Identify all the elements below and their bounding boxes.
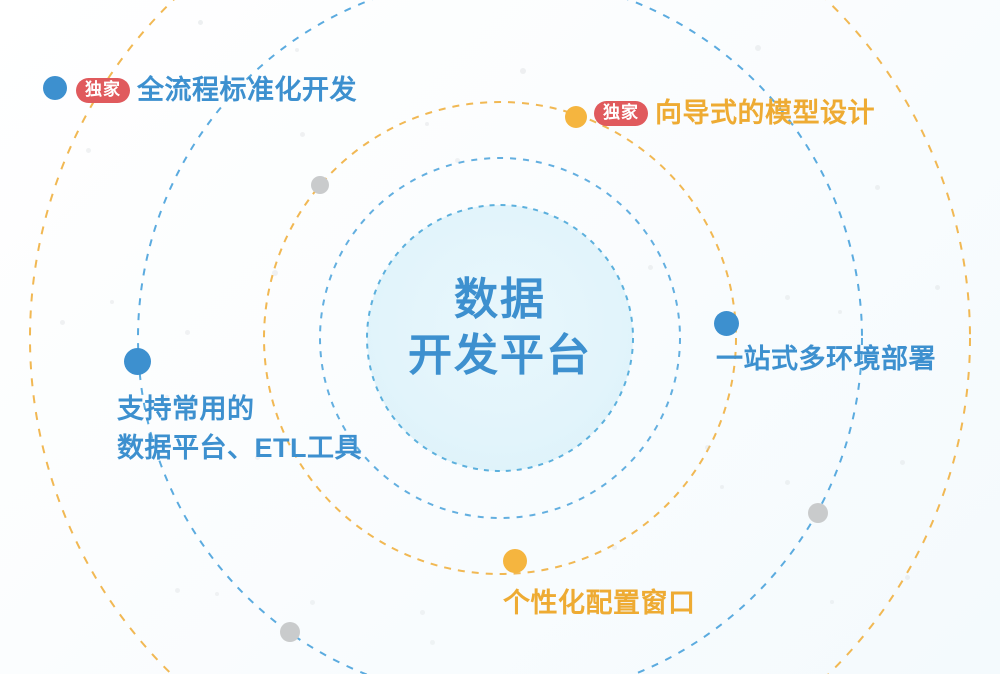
exclusive-badge: 独家 [594, 101, 648, 126]
node-dot-full-process[interactable] [43, 76, 67, 100]
node-dot-support-etl-tools[interactable] [124, 348, 151, 375]
background-speck [720, 485, 724, 489]
background-speck [830, 600, 834, 604]
node-label-support-etl-tools[interactable]: 支持常用的 数据平台、ETL工具 [117, 390, 362, 468]
gray-marker-top [311, 176, 329, 194]
node-dot-wizard-model-design[interactable] [565, 106, 587, 128]
node-text-full-process: 全流程标准化开发 [137, 73, 357, 108]
background-speck [425, 122, 429, 126]
node-label-one-stop-deploy[interactable]: 一站式多环境部署 [716, 342, 936, 377]
background-speck [110, 300, 114, 304]
background-speck [295, 48, 299, 52]
background-speck [520, 68, 526, 74]
background-speck [612, 545, 617, 550]
background-speck [215, 592, 219, 596]
background-speck [785, 295, 790, 300]
background-speck [648, 265, 653, 270]
background-speck [705, 445, 710, 450]
node-text-support-etl-tools-line1: 支持常用的 [117, 390, 362, 429]
background-speck [455, 158, 460, 163]
background-speck [905, 575, 910, 580]
background-speck [935, 285, 940, 290]
exclusive-badge: 独家 [76, 78, 130, 103]
center-title-line1: 数据 [350, 272, 650, 328]
background-speck [185, 330, 190, 335]
background-speck [900, 460, 905, 465]
background-speck [430, 640, 435, 645]
background-speck [755, 45, 761, 51]
node-label-custom-config-window[interactable]: 个性化配置窗口 [503, 586, 696, 621]
node-text-wizard-model-design: 向导式的模型设计 [655, 96, 875, 131]
background-speck [785, 480, 790, 485]
background-speck [86, 148, 91, 153]
gray-marker-bottom [280, 622, 300, 642]
node-label-wizard-model-design[interactable]: 独家 向导式的模型设计 [594, 96, 875, 131]
background-speck [420, 610, 425, 615]
node-dot-one-stop-deploy[interactable] [714, 311, 739, 336]
background-speck [875, 185, 880, 190]
center-title: 数据 开发平台 [350, 272, 650, 385]
background-speck [272, 270, 278, 276]
center-title-line2: 开发平台 [350, 328, 650, 384]
background-speck [838, 310, 842, 314]
background-speck [175, 588, 180, 593]
background-speck [60, 320, 65, 325]
node-text-custom-config-window: 个性化配置窗口 [503, 588, 696, 618]
gray-marker-right [808, 503, 828, 523]
background-speck [198, 20, 203, 25]
node-text-support-etl-tools-line2: 数据平台、ETL工具 [117, 429, 362, 468]
background-speck [300, 132, 305, 137]
infographic-canvas: 数据 开发平台 独家 全流程标准化开发 独家 向导式的模型设计 一站式多环境部署… [0, 0, 1000, 674]
node-label-full-process[interactable]: 独家 全流程标准化开发 [76, 73, 357, 108]
node-dot-custom-config-window[interactable] [503, 549, 527, 573]
node-text-one-stop-deploy: 一站式多环境部署 [716, 344, 936, 374]
background-speck [310, 600, 315, 605]
